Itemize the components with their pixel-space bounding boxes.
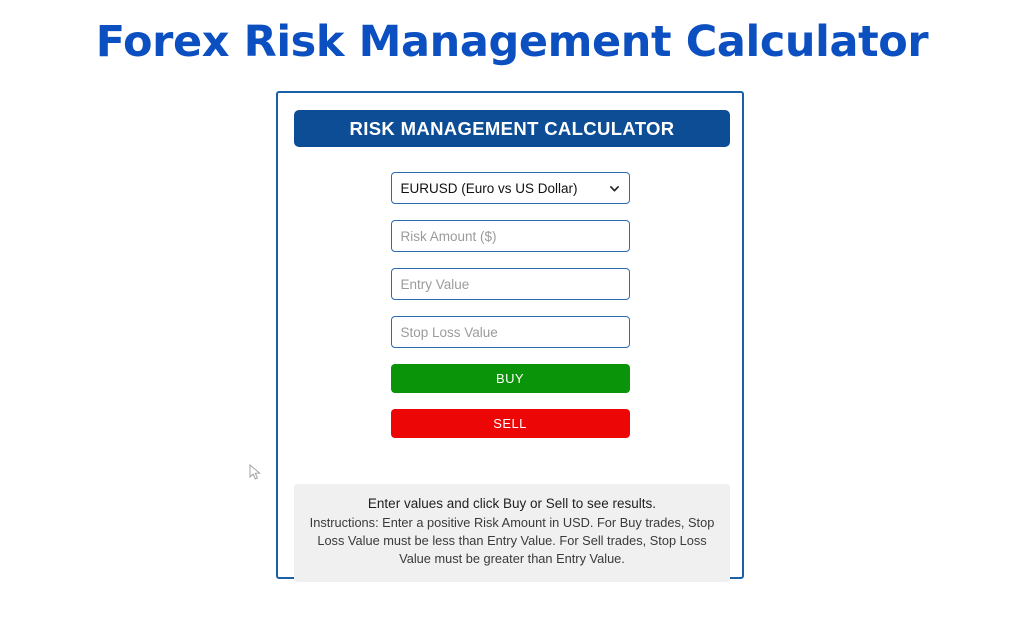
chevron-down-icon bbox=[609, 183, 620, 194]
currency-pair-selected-value: EURUSD (Euro vs US Dollar) bbox=[401, 181, 605, 196]
entry-value-placeholder: Entry Value bbox=[401, 277, 470, 292]
entry-value-row: Entry Value bbox=[278, 268, 742, 316]
stop-loss-value-placeholder: Stop Loss Value bbox=[401, 325, 498, 340]
buy-button[interactable]: BUY bbox=[391, 364, 630, 393]
sell-button[interactable]: SELL bbox=[391, 409, 630, 438]
risk-amount-placeholder: Risk Amount ($) bbox=[401, 229, 497, 244]
stop-loss-value-input[interactable]: Stop Loss Value bbox=[391, 316, 630, 348]
calculator-card: RISK MANAGEMENT CALCULATOR EURUSD (Euro … bbox=[276, 91, 744, 579]
calculator-form: EURUSD (Euro vs US Dollar) Risk Amount (… bbox=[278, 172, 742, 438]
pair-select-row: EURUSD (Euro vs US Dollar) bbox=[278, 172, 742, 220]
page-title: Forex Risk Management Calculator bbox=[0, 17, 1024, 67]
risk-amount-input[interactable]: Risk Amount ($) bbox=[391, 220, 630, 252]
currency-pair-select[interactable]: EURUSD (Euro vs US Dollar) bbox=[391, 172, 630, 204]
stop-loss-value-row: Stop Loss Value bbox=[278, 316, 742, 364]
mouse-cursor-icon bbox=[249, 464, 263, 482]
instructions-headline: Enter values and click Buy or Sell to se… bbox=[308, 496, 716, 511]
instructions-panel: Enter values and click Buy or Sell to se… bbox=[294, 484, 730, 582]
instructions-body: Instructions: Enter a positive Risk Amou… bbox=[308, 514, 716, 568]
card-header-title: RISK MANAGEMENT CALCULATOR bbox=[294, 110, 730, 147]
buy-button-row: BUY bbox=[278, 364, 742, 409]
risk-amount-row: Risk Amount ($) bbox=[278, 220, 742, 268]
sell-button-row: SELL bbox=[278, 409, 742, 438]
entry-value-input[interactable]: Entry Value bbox=[391, 268, 630, 300]
